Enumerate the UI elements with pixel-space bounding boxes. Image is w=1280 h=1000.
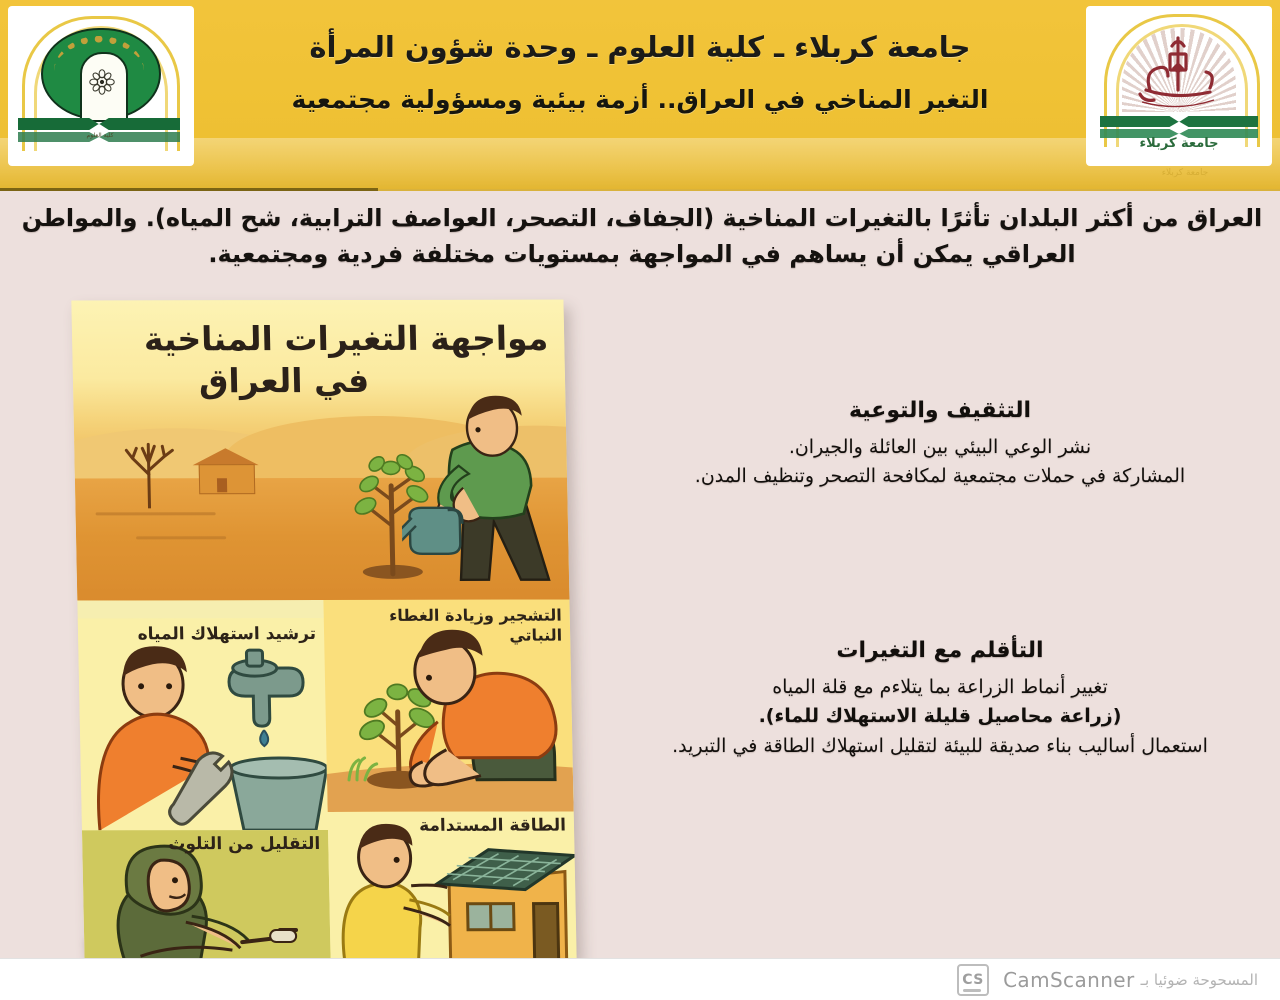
header-divider-line <box>0 188 378 191</box>
atom-flower-icon <box>88 68 116 96</box>
climate-poster-image: مواجهة التغيرات المناخية في العراق ترشيد… <box>78 300 570 960</box>
panel-label-pollution: التقليل من التلوث <box>130 834 320 856</box>
header-institution-line: جامعة كربلاء ـ كلية العلوم ـ وحدة شؤون ا… <box>210 26 1070 68</box>
poster-panel-grid: ترشيد استهلاك المياه <box>77 600 576 961</box>
camscanner-arabic-note: المسحوحة ضوئيا بـ <box>1141 971 1258 989</box>
karbala-logo-shadow-caption: جامعة كربلاء <box>1110 168 1260 178</box>
section-line: نشر الوعي البيئي بين العائلة والجيران. <box>610 433 1270 462</box>
camscanner-watermark-bar: CS CamScanner المسحوحة ضوئيا بـ <box>0 958 1280 1000</box>
header-topic-line: التغير المناخي في العراق.. أزمة بيئية وم… <box>210 82 1070 118</box>
panel-label-water: ترشيد استهلاك المياه <box>126 624 316 646</box>
poster-title-line1: مواجهة التغيرات المناخية <box>144 319 549 359</box>
poster-panel-sustainable-energy: الطاقة المستدامة <box>328 812 577 960</box>
section-title: التأقلم مع التغيرات <box>610 638 1270 663</box>
camscanner-logo-icon: CS <box>957 964 989 996</box>
section-line: تغيير أنماط الزراعة بما يتلاءم مع قلة ال… <box>610 673 1270 702</box>
section-line: استعمال أساليب بناء صديقة للبيئة لتقليل … <box>610 732 1270 761</box>
scanned-document-page: كلية العلوم <box>0 0 1280 1000</box>
man-watering-plant-icon <box>399 392 553 582</box>
poster-title: مواجهة التغيرات المناخية في العراق <box>108 318 550 403</box>
karbala-calligraphy-minaret-icon <box>1126 32 1232 118</box>
intro-paragraph: العراق من أكثر البلدان تأثرًا بالتغيرات … <box>20 200 1264 273</box>
section-title: التثقيف والتوعية <box>610 398 1270 423</box>
karbala-logo-caption: جامعة كربلاء <box>1112 136 1246 151</box>
section-line: المشاركة في حملات مجتمعية لمكافحة التصحر… <box>610 462 1270 491</box>
poster-panel-water-saving: ترشيد استهلاك المياه <box>78 618 328 830</box>
header-divider-line-light <box>378 189 1280 191</box>
section-education-awareness: التثقيف والتوعية نشر الوعي البيئي بين ال… <box>610 398 1270 492</box>
faucet-and-plumber-icon <box>78 618 328 830</box>
dead-tree-icon <box>114 430 186 508</box>
college-of-science-logo: كلية العلوم <box>8 6 194 166</box>
poster-title-line2: في العراق <box>109 360 550 403</box>
panel-label-energy: الطاقة المستدامة <box>376 816 566 838</box>
panel-label-tree: التشجير وزيادة الغطاء النباتي <box>382 606 563 646</box>
college-logo-caption: كلية العلوم <box>60 132 140 139</box>
header-title-block: جامعة كربلاء ـ كلية العلوم ـ وحدة شؤون ا… <box>210 26 1070 118</box>
poster-panel-pollution-reduction: التقليل من التلوث <box>82 830 331 960</box>
farm-house-icon <box>192 448 259 492</box>
section-adaptation: التأقلم مع التغيرات تغيير أنماط الزراعة … <box>610 638 1270 761</box>
section-line: (زراعة محاصيل قليلة الاستهلاك للماء). <box>610 702 1270 731</box>
poster-top-scene: مواجهة التغيرات المناخية في العراق <box>71 300 569 601</box>
poster-panel-tree-planting: التشجير وزيادة الغطاء النباتي <box>323 600 573 812</box>
karbala-university-logo: جامعة كربلاء <box>1086 6 1272 166</box>
camscanner-brand-text: CamScanner <box>1003 968 1135 992</box>
